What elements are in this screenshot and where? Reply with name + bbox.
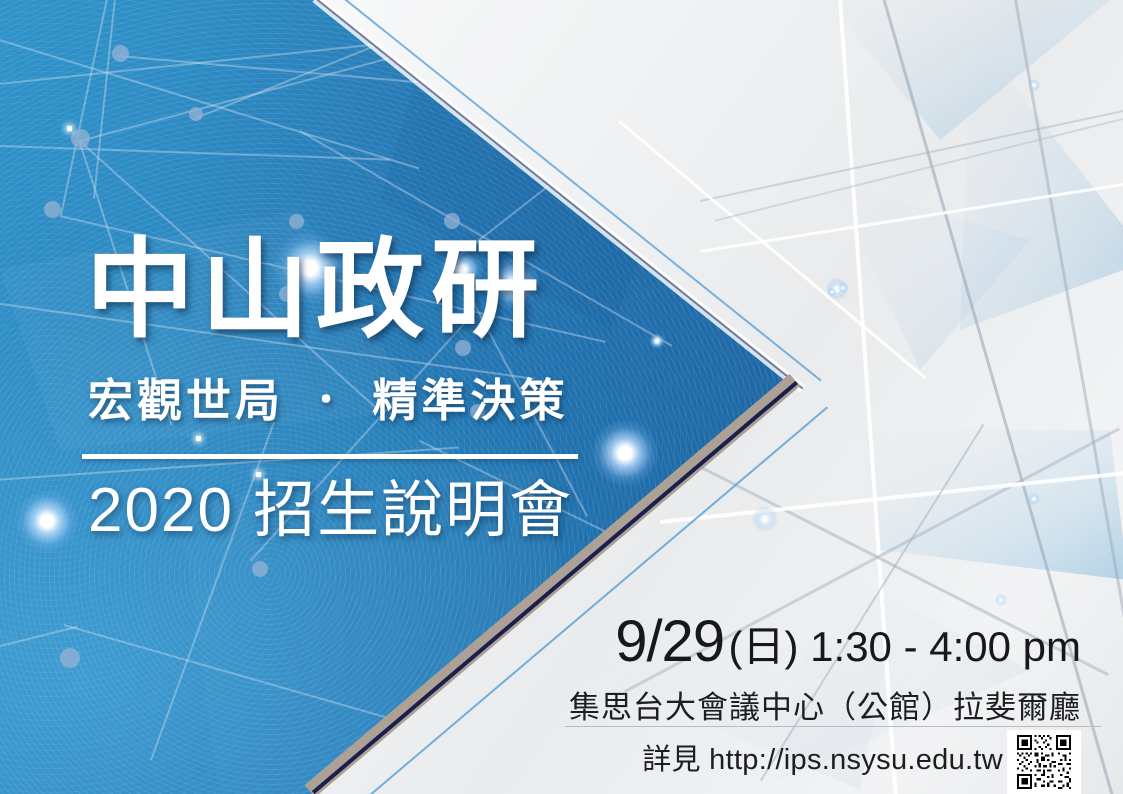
tagline: 宏觀世局 ． 精準決策 [88, 378, 568, 423]
event-url[interactable]: 詳見 http://ips.nsysu.edu.tw [642, 736, 1003, 778]
glow-small-right [649, 333, 665, 349]
qr-code-icon [1015, 735, 1073, 789]
light-dot-2 [1028, 79, 1040, 91]
spark-3 [196, 436, 201, 441]
net-node-2 [189, 107, 203, 121]
page-title: 中山政研 [86, 236, 546, 344]
glow-right-mid [592, 420, 658, 486]
glow-lower-left [16, 490, 78, 552]
event-time: (日) 1:30 - 4:00 pm [729, 623, 1081, 670]
net-node-3 [71, 129, 90, 148]
event-subtitle: 2020 招生說明會 [88, 476, 573, 545]
event-venue: 集思台大會議中心（公館）拉斐爾廳 [569, 682, 1081, 727]
qr-code[interactable] [1007, 730, 1081, 794]
poster-canvas: 中山政研 宏觀世局 ． 精準決策 2020 招生說明會 9/29 (日) 1:3… [0, 0, 1123, 794]
net-node-9 [252, 561, 268, 577]
light-dot-4 [838, 283, 848, 293]
title-divider [82, 454, 578, 459]
spark-1 [67, 126, 72, 131]
event-date: 9/29 [615, 609, 724, 674]
light-dot-5 [995, 594, 1007, 606]
event-datetime: 9/29 (日) 1:30 - 4:00 pm [615, 608, 1081, 675]
footer-divider [565, 726, 1101, 727]
net-node-1 [112, 45, 129, 62]
light-dot-7 [828, 288, 836, 296]
light-dot-6 [752, 506, 778, 532]
net-node-4 [44, 201, 61, 218]
net-node-8 [60, 648, 80, 668]
light-dot-3 [1028, 493, 1040, 505]
